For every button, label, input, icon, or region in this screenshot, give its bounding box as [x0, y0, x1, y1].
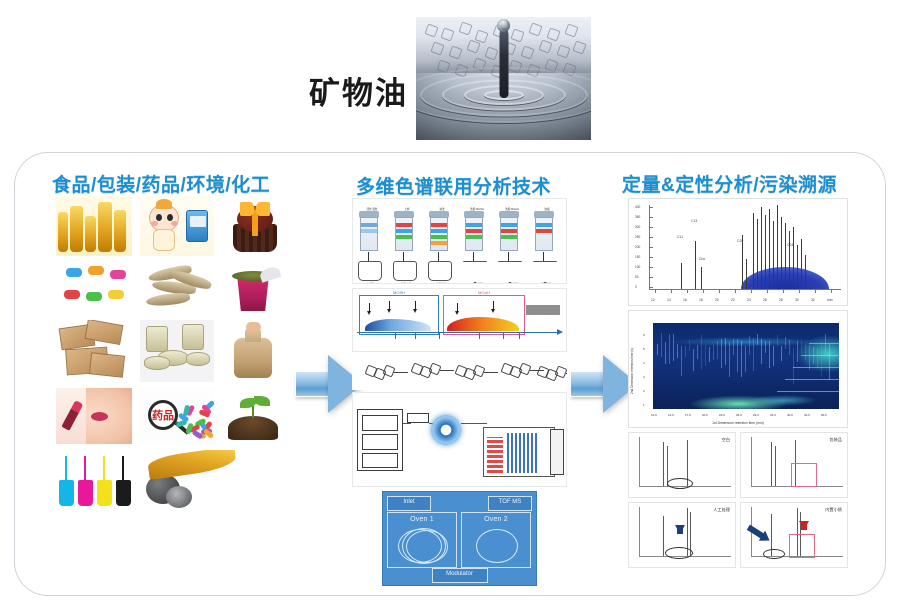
pointer-arrow-2: [389, 301, 390, 310]
water-drop-image: [416, 17, 591, 140]
candy-5: [108, 290, 124, 299]
dried-fish-2: [146, 292, 191, 308]
spe-flask-2: [428, 261, 452, 281]
spe-band-1-1: [396, 229, 412, 233]
spe-step-1-bottom-label: 样品上样: [390, 283, 422, 284]
panel-manual-label: 人工处理: [713, 507, 730, 513]
peak-1: [663, 516, 664, 556]
gc-detector-unit: [550, 429, 564, 475]
lips: [91, 412, 108, 421]
lubricant-gears-image: [140, 450, 236, 510]
chromatogram-peak-18: [805, 255, 806, 289]
sample-row-1: [56, 196, 288, 256]
panel-packaging-label: 包装品: [829, 437, 842, 443]
lc-pump-a: [362, 434, 398, 450]
spe-band-3-1: [466, 229, 482, 233]
lipstick-cosmetics-image: [56, 388, 132, 444]
candy-3: [64, 290, 80, 299]
hand-holding-sack: [246, 322, 261, 332]
contour-y-tick-2: 3: [643, 375, 645, 379]
contour-x-tick-0: 10.0: [651, 413, 657, 417]
contour-streak-14: [713, 345, 714, 360]
contour-x-axis-label: 1st Dimension retention time (min): [629, 421, 847, 425]
chromatogram-peak-11: [777, 205, 778, 289]
mosh-moah-separation-diagram: MOSH MOAH: [352, 288, 567, 352]
chromatogram-x-tick-11: [831, 289, 832, 293]
sack-body: [234, 338, 272, 378]
spe-band-2-0: [431, 223, 447, 227]
chromatogram-x-label-7: 26: [763, 298, 767, 302]
contour-tail-0: [809, 343, 839, 344]
structure-1-chain: [440, 370, 454, 371]
axis-tick-2: [415, 333, 416, 339]
dried-fish-image: [140, 262, 214, 314]
sample-row-2: [56, 262, 288, 314]
panel-blank: 空白: [628, 432, 736, 498]
contour-streak-25: [757, 334, 758, 345]
contour-streak-4: [673, 334, 674, 361]
gcxgc-oven-2: Oven 2: [461, 512, 531, 568]
axis-tick-1: [395, 333, 396, 339]
column-heading-results: 定量&定性分析/污染溯源: [622, 170, 837, 197]
baby-eye-left: [156, 214, 162, 221]
contour-x-tick-5: 26.0: [736, 413, 742, 417]
spe-cleanup-workflow-diagram: 活化 装柱柱活化上样样品上样淋洗杂质淋洗洗脱 MOSHMOSH 洗脱洗脱 MOA…: [352, 198, 567, 284]
chromatogram-x-label-5: 22: [731, 298, 735, 302]
annotation-box: [526, 305, 560, 315]
pointer-arrow-5: [493, 301, 494, 310]
noodle-fork: [259, 265, 282, 283]
formula-can: [186, 210, 208, 242]
chromatogram-peak-14: [789, 231, 790, 289]
spe-step-3: 洗脱 MOSHMOSH 洗脱: [462, 209, 488, 284]
spe-band-3-0: [466, 223, 482, 227]
contour-streak-0: [657, 344, 658, 355]
baby-body: [153, 229, 175, 251]
chromatogram-y-tick-3: [649, 257, 653, 258]
contour-streak-11: [701, 335, 702, 370]
oil-stream: [147, 450, 236, 480]
gcxgc-modulator-label: Modulator: [433, 571, 487, 577]
gcxgc-inlet: Inlet: [387, 496, 431, 511]
chromatogram-y-label-2: 100: [635, 265, 640, 269]
structure-2-chain: [484, 372, 498, 373]
contour-tail-1: [801, 355, 839, 356]
contour-streak-16: [721, 339, 722, 368]
contour-streak-41: [821, 341, 822, 377]
gcxgc-tof-label: TOF MS: [489, 499, 531, 505]
highlight-ellipse: [763, 549, 785, 559]
chromatogram-peak-16: [797, 245, 798, 289]
contour-x-tick-9: 43.0: [804, 413, 810, 417]
ink-bottle-0: [59, 480, 74, 506]
contour-streak-9: [693, 349, 694, 371]
sprout-leaf-right: [254, 396, 270, 406]
medicine-label: 药品: [152, 407, 174, 423]
spe-step-0-bottom-label: 柱活化: [355, 283, 387, 284]
gc-fid-chromatogram: 1214161820222426283032min050100150200250…: [628, 198, 848, 306]
oil-bottle-1: [70, 206, 83, 252]
chromatogram-y-tick-7: [649, 217, 653, 218]
spe-step-2-bottom-label: 杂质淋洗: [425, 283, 457, 284]
ink-bottle-3: [116, 480, 131, 506]
chromatogram-x-label-11: min: [827, 298, 832, 302]
retention-time-axis: [357, 332, 562, 333]
spe-band-0-1: [361, 229, 377, 233]
spe-band-4-1: [501, 229, 517, 233]
spe-step-1: 上样样品上样: [392, 209, 418, 284]
contour-streak-20: [737, 339, 738, 372]
chromatogram-peak-label-3: C20: [737, 239, 743, 243]
flow-line-1: [403, 423, 411, 424]
lipstick: [61, 407, 79, 431]
spe-band-4-2: [501, 235, 517, 239]
spe-band-2-2: [431, 235, 447, 239]
panel-blank-label: 空白: [722, 437, 730, 443]
contour-streak-3: [669, 334, 670, 364]
drop-splash-column: [499, 26, 508, 97]
chromatogram-x-tick-0: [655, 289, 656, 293]
spe-band-1-0: [396, 223, 412, 227]
chromatogram-peak-6: [757, 219, 758, 289]
highlight-box: [791, 463, 817, 487]
chromatogram-y-tick-2: [649, 267, 653, 268]
chromatogram-peak-label-1: C13: [691, 219, 697, 223]
spe-needle-5: [543, 252, 544, 262]
chromatogram-y-label-5: 250: [635, 235, 640, 239]
title-bar: 矿物油 分析测试: [0, 8, 900, 148]
spe-flask-1: [393, 261, 417, 281]
contour-streak-35: [797, 341, 798, 362]
oven2-coil: [476, 529, 518, 563]
spe-band-5-1: [536, 229, 552, 233]
contour-streak-23: [749, 336, 750, 355]
soil-sprout-image: [222, 388, 284, 444]
lc-column: [407, 413, 429, 423]
oil-bottle-0: [58, 212, 68, 252]
contour-streak-21: [741, 341, 742, 377]
cardboard-box-3: [89, 352, 125, 377]
chromatogram-y-tick-1: [649, 277, 653, 278]
column-heading-samples: 食品/包装/药品/环境/化工: [52, 170, 270, 197]
ink-tube-0: [65, 456, 67, 480]
chromatogram-x-tick-1: [671, 289, 672, 293]
contour-field: [653, 323, 839, 409]
baby-cheek-left: [151, 221, 158, 226]
chromatogram-x-tick-8: [783, 289, 784, 293]
y-axis: [639, 437, 640, 487]
contour-x-tick-7: 32.0: [770, 413, 776, 417]
molecular-structures-diagram: [352, 354, 567, 390]
metal-can-1: [182, 324, 204, 350]
panel-inner-bag: 内置小袋: [740, 502, 848, 568]
lc-injector: [362, 415, 398, 431]
cmyk-ink-bottles-image: [56, 450, 132, 510]
spe-sepfunnel-3: [463, 261, 487, 283]
gcxgc-oven2-label: Oven 2: [462, 516, 530, 523]
molecule-hex-9: [430, 41, 444, 55]
spe-step-4: 洗脱 MOAHMOAH 洗脱: [497, 209, 523, 284]
chromatogram-peak-label-0: C11: [677, 235, 683, 239]
panel-inner-bag-label: 内置小袋: [825, 507, 842, 513]
molecule-hex-10: [448, 45, 462, 59]
contour-streak-13: [709, 347, 710, 362]
panel-packaging: 包装品: [740, 432, 848, 498]
chromatogram-x-label-9: 30: [795, 298, 799, 302]
chromatogram-y-label-1: 50: [635, 275, 639, 279]
contour-x-tick-1: 14.0: [668, 413, 674, 417]
chromatogram-y-tick-8: [649, 207, 653, 208]
chromatogram-x-label-0: 12: [651, 298, 655, 302]
contour-x-tick-10: 50.0: [821, 413, 827, 417]
chromatogram-x-tick-5: [735, 289, 736, 293]
molecule-hex-12: [484, 46, 498, 60]
molecule-hex-14: [520, 45, 534, 59]
contour-streak-33: [789, 340, 790, 355]
highlight-ellipse: [667, 478, 693, 489]
chromatogram-y-tick-5: [649, 237, 653, 238]
contour-streak-31: [781, 346, 782, 361]
contour-streak-10: [697, 345, 698, 359]
gcxgc-oven1-label: Oven 1: [388, 516, 456, 523]
chromatogram-peak-1: [695, 241, 696, 289]
metal-can-4: [144, 356, 170, 370]
axis-tick-5: [503, 333, 504, 339]
gcxgc-tof-ms: TOF MS: [488, 496, 532, 511]
gear-small: [166, 486, 192, 508]
pharmaceutical-pills-image: 药品: [140, 388, 214, 444]
chromatogram-x-tick-7: [767, 289, 768, 293]
contour-streak-8: [689, 340, 690, 351]
contour-streak-1: [661, 333, 662, 357]
baby-cheek-right: [171, 221, 178, 226]
ink-tube-3: [122, 456, 124, 480]
molecule-hex-15: [538, 39, 552, 53]
spe-flask-0: [358, 261, 382, 281]
pointer-arrow-1: [369, 303, 370, 312]
chromatogram-peak-10: [773, 221, 774, 289]
instant-noodle-cup-image: [222, 262, 284, 314]
pointer-arrow-3: [415, 301, 416, 310]
gc-precolumn: [487, 437, 503, 473]
highlight-ellipse: [665, 547, 693, 559]
contour-streak-27: [765, 341, 766, 353]
gcxgc-schematic: Inlet TOF MS Oven 1 Oven 2 Modulator: [382, 491, 537, 586]
peak-1: [663, 442, 664, 486]
spe-band-5-0: [536, 223, 552, 227]
falling-droplet: [500, 19, 507, 30]
molecule-hex-2: [458, 21, 472, 35]
contour-streak-18: [729, 342, 730, 377]
chromatogram-x-label-1: 14: [667, 298, 671, 302]
chromatogram-x-tick-10: [815, 289, 816, 293]
contour-streak-17: [725, 338, 726, 365]
metal-can-0: [146, 326, 168, 352]
spe-step-5: 浓缩浓缩定容: [532, 209, 558, 284]
gift-bow: [240, 202, 270, 216]
sample-row-3: [56, 320, 288, 382]
spe-step-5-bottom-label: 浓缩定容: [530, 283, 562, 284]
structure-4-chain: [566, 373, 567, 374]
chromatogram-peak-5: [753, 213, 754, 289]
baby-eye-right: [167, 214, 173, 221]
contour-streak-19: [733, 339, 734, 355]
molecule-hex-17: [572, 40, 586, 54]
oil-bottle-4: [114, 210, 126, 252]
spe-band-2-3: [431, 241, 447, 245]
contour-x-tick-6: 29.0: [753, 413, 759, 417]
ink-bottle-2: [97, 480, 112, 506]
contour-tail-3: [785, 379, 839, 380]
contour-streak-30: [777, 335, 778, 346]
sample-row-4: 药品: [56, 388, 288, 444]
chromatogram-peak-13: [785, 223, 786, 289]
spe-step-3-bottom-label: MOSH 洗脱: [460, 283, 492, 284]
chromatogram-y-tick-6: [649, 227, 653, 228]
chromatogram-peak-15: [793, 227, 794, 289]
contour-y-tick-5: 6: [643, 333, 645, 337]
gcxgc-modulator: Modulator: [432, 568, 488, 583]
spe-sepfunnel-5: [533, 261, 557, 283]
contour-x-tick-4: 23.0: [719, 413, 725, 417]
chromatogram-peak-label-2: Cho: [699, 257, 705, 261]
chromatogram-y-label-0: 0: [635, 285, 637, 289]
chromatogram-peak-9: [769, 209, 770, 289]
oven1-coil-c: [406, 530, 448, 563]
chromatogram-x-tick-2: [687, 289, 688, 293]
axis-tick-6: [519, 333, 520, 339]
molecule-hex-5: [510, 28, 524, 42]
chromatogram-x-label-8: 28: [779, 298, 783, 302]
candies-image: [56, 262, 132, 314]
chromatogram-x-label-3: 18: [699, 298, 703, 302]
lc-gc-online-schematic: [352, 392, 567, 487]
lc-pump-b: [362, 453, 398, 468]
contour-streak-29: [773, 346, 774, 366]
chromatogram-peak-7: [761, 207, 762, 289]
chromatogram-x-tick-3: [703, 289, 704, 293]
spe-band-0-0: [361, 223, 377, 227]
metal-can-3: [186, 352, 210, 366]
chromatogram-y-label-3: 150: [635, 255, 640, 259]
spe-step-2: 淋洗杂质淋洗: [427, 209, 453, 284]
oil-bottle-3: [98, 202, 112, 252]
column-heading-methods: 多维色谱联用分析技术: [356, 172, 551, 199]
chromatogram-y-label-8: 400: [635, 205, 640, 209]
spe-step-0: 活化 装柱柱活化: [357, 209, 383, 284]
contour-y-tick-0: 1: [643, 403, 645, 407]
chromatogram-x-tick-6: [751, 289, 752, 293]
contour-streak-2: [665, 342, 666, 364]
paper-sack-image: [222, 320, 284, 382]
spe-needle-3: [473, 252, 474, 262]
infographic-root: 矿物油 分析测试 食品/包装/药品/环境/化工 多维色谱联用分析技术 定量&定性…: [0, 0, 900, 608]
contour-streak-40: [817, 348, 818, 367]
axis-tick-4: [479, 333, 480, 339]
chromatogram-x-label-10: 32: [811, 298, 815, 302]
candy-1: [88, 266, 104, 275]
contour-tail-4: [777, 391, 839, 392]
chromatogram-peak-12: [781, 217, 782, 289]
highlight-box: [789, 534, 815, 558]
source-tracing-quad: 空白 包装品 人工处理: [628, 432, 848, 568]
can-label-patch: [190, 216, 206, 227]
contour-y-tick-4: 5: [643, 347, 645, 351]
sample-row-5: [56, 450, 288, 510]
chromatogram-peak-8: [765, 215, 766, 289]
metal-cans-image: [140, 320, 214, 382]
spe-step-4-bottom-label: MOAH 洗脱: [495, 283, 527, 284]
molecule-hex-6: [528, 22, 542, 36]
contour-streak-15: [717, 341, 718, 359]
contour-streak-5: [677, 344, 678, 358]
chromatogram-x-label-6: 24: [747, 298, 751, 302]
panel-manual-process: 人工处理: [628, 502, 736, 568]
chromatogram-peak-2: [701, 267, 702, 289]
contour-x-tick-3: 20.0: [702, 413, 708, 417]
chromatogram-x-axis: [649, 289, 841, 290]
contour-tail-2: [793, 367, 839, 368]
gcxgc-contour-plot: 2nd Dimension retention time (s) 1st Dim…: [628, 310, 848, 428]
oil-bottle-2: [85, 216, 96, 252]
axis-tick-3: [439, 333, 440, 339]
spe-band-2-1: [431, 229, 447, 233]
ink-bottle-1: [78, 480, 93, 506]
contour-streak-12: [705, 345, 706, 366]
contour-streak-6: [681, 346, 682, 376]
contour-streak-26: [761, 339, 762, 364]
contour-streak-24: [753, 338, 754, 371]
chromatogram-x-tick-9: [799, 289, 800, 293]
baby-hair: [156, 199, 172, 209]
molecule-hex-8: [564, 23, 578, 37]
contour-y-tick-1: 2: [643, 389, 645, 393]
contour-streak-28: [769, 341, 770, 368]
y-axis: [639, 507, 640, 557]
candy-0: [66, 268, 82, 277]
pointer-arrow-4: [457, 303, 458, 312]
contour-y-axis-label: 2nd Dimension retention time (s): [630, 348, 634, 394]
molecule-hex-0: [424, 23, 438, 37]
spe-band-3-2: [466, 235, 482, 239]
peak-1: [771, 442, 772, 486]
sample-photo-grid: 药品: [56, 196, 288, 582]
candy-2: [110, 270, 126, 279]
gcxgc-oven-1: Oven 1: [387, 512, 457, 568]
contour-streak-37: [805, 345, 806, 360]
contour-y-tick-3: 4: [643, 361, 645, 365]
structure-0-chain: [394, 372, 408, 373]
ink-tube-2: [103, 456, 105, 480]
peak-2: [775, 446, 776, 486]
chromatogram-peak-4: [746, 259, 747, 289]
contour-x-tick-2: 17.0: [685, 413, 691, 417]
infant-formula-image: [140, 196, 214, 256]
transfer-valve-icon: [431, 415, 461, 445]
cooking-oil-bottles-image: [56, 196, 132, 256]
contour-streak-22: [745, 346, 746, 372]
molecule-hex-16: [556, 44, 570, 58]
chromatogram-peak-3: [742, 235, 743, 289]
chocolate-gift-image: [222, 196, 288, 256]
spe-band-1-2: [396, 235, 412, 239]
contour-streak-36: [801, 341, 802, 354]
chromatogram-y-label-7: 350: [635, 215, 640, 219]
red-down-arrow: [799, 521, 809, 530]
spe-band-4-0: [501, 223, 517, 227]
ink-tube-1: [84, 456, 86, 480]
chromatogram-y-label-4: 200: [635, 245, 640, 249]
